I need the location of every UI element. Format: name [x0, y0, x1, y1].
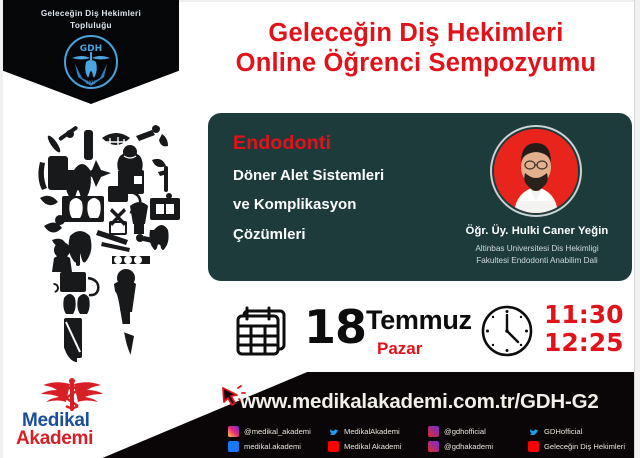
- event-day: 18: [304, 300, 366, 354]
- website-url[interactable]: www.medikalakademi.com.tr/GDH-G2: [240, 390, 599, 414]
- caduceus-wings-icon: [40, 378, 104, 412]
- speaker-affiliation-line-2: Fakultesi Endodonti Anabilim Dali: [452, 255, 622, 267]
- community-badge: Geleceğin Diş Hekimleri Topluluğu GDH 20…: [3, 0, 179, 104]
- clock-icon: [480, 304, 534, 358]
- speaker-affiliation-line-1: Altinbas Universitesi Dis Hekimligi: [452, 243, 622, 255]
- youtube-icon: [528, 441, 539, 452]
- calendar-icon: [232, 302, 288, 358]
- dental-tools-tooth-collage-icon: [14, 112, 204, 370]
- social-link[interactable]: medikal.akademi: [228, 439, 328, 454]
- event-weekday: Pazar: [377, 339, 422, 359]
- social-column: MedikalAkademi Medikal Akademi: [328, 424, 428, 454]
- speaker-photo: [490, 125, 582, 217]
- title-line-2: Online Öğrenci Sempozyumu: [196, 48, 636, 78]
- sponsor-name-line-2: Akademi: [16, 428, 93, 450]
- social-links: @medikal_akademi medikal.akademi Medikal…: [228, 424, 628, 454]
- topic-panel: Endodonti Döner Alet Sistemleri ve Kompl…: [208, 113, 632, 281]
- social-label: GDHofficial: [544, 427, 582, 436]
- social-column: @gdhofficial @gdhakademi: [428, 424, 528, 454]
- badge-line-1: Geleceğin Diş Hekimleri: [3, 9, 179, 18]
- social-label: MedikalAkademi: [344, 427, 400, 436]
- badge-emblem-year: 2017: [86, 80, 97, 85]
- social-label: Medikal Akademi: [344, 442, 401, 451]
- event-times: 11:30 12:25: [544, 301, 624, 356]
- twitter-icon: [328, 426, 339, 437]
- speaker-affiliation: Altinbas Universitesi Dis Hekimligi Faku…: [452, 243, 622, 267]
- medikal-akademi-logo: Medikal Akademi: [14, 378, 130, 450]
- speaker-photo-ring: [490, 125, 582, 217]
- social-column: @medikal_akademi medikal.akademi: [228, 424, 328, 454]
- social-link[interactable]: Medikal Akademi: [328, 439, 428, 454]
- caduceus-tooth-emblem-icon: GDH 2017: [62, 33, 120, 91]
- instagram-icon: [428, 426, 439, 437]
- social-link[interactable]: @medikal_akademi: [228, 424, 328, 439]
- instagram-icon: [428, 441, 439, 452]
- social-column: GDHofficial Geleceğin Diş Hekimleri: [528, 424, 628, 454]
- topic-subtitle-line-2: ve Komplikasyon: [233, 190, 463, 219]
- social-link[interactable]: @gdhofficial: [428, 424, 528, 439]
- badge-line-2: Topluluğu: [3, 21, 179, 30]
- speaker-name: Öğr. Üy. Hulki Caner Yeğin: [462, 225, 612, 237]
- poster-title: Geleceğin Diş Hekimleri Online Öğrenci S…: [196, 18, 636, 78]
- instagram-icon: [228, 426, 239, 437]
- topic-subtitle-line-3: Çözümleri: [233, 220, 463, 249]
- social-link[interactable]: GDHofficial: [528, 424, 628, 439]
- social-label: Geleceğin Diş Hekimleri: [544, 442, 625, 451]
- title-line-1: Geleceğin Diş Hekimleri: [196, 18, 636, 48]
- topic-title: Endodonti: [233, 132, 331, 155]
- event-time-end: 12:25: [544, 329, 624, 357]
- social-label: medikal.akademi: [244, 442, 301, 451]
- topic-subtitle: Döner Alet Sistemleri ve Komplikasyon Çö…: [233, 161, 463, 249]
- social-link[interactable]: MedikalAkademi: [328, 424, 428, 439]
- youtube-icon: [328, 441, 339, 452]
- twitter-icon: [528, 426, 539, 437]
- social-label: @medikal_akademi: [244, 427, 311, 436]
- social-label: @gdhofficial: [444, 427, 486, 436]
- page-edge-left: [0, 0, 3, 458]
- social-link[interactable]: Geleceğin Diş Hekimleri: [528, 439, 628, 454]
- social-label: @gdhakademi: [444, 442, 493, 451]
- event-time-start: 11:30: [544, 301, 624, 329]
- social-link[interactable]: @gdhakademi: [428, 439, 528, 454]
- event-month: Temmuz: [366, 305, 472, 336]
- page-edge-right: [634, 0, 640, 458]
- event-datetime: 18 Temmuz Pazar 11:30 12:25: [232, 296, 632, 368]
- facebook-icon: [228, 441, 239, 452]
- topic-subtitle-line-1: Döner Alet Sistemleri: [233, 161, 463, 190]
- poster: Geleceğin Diş Hekimleri Topluluğu GDH 20…: [0, 0, 640, 458]
